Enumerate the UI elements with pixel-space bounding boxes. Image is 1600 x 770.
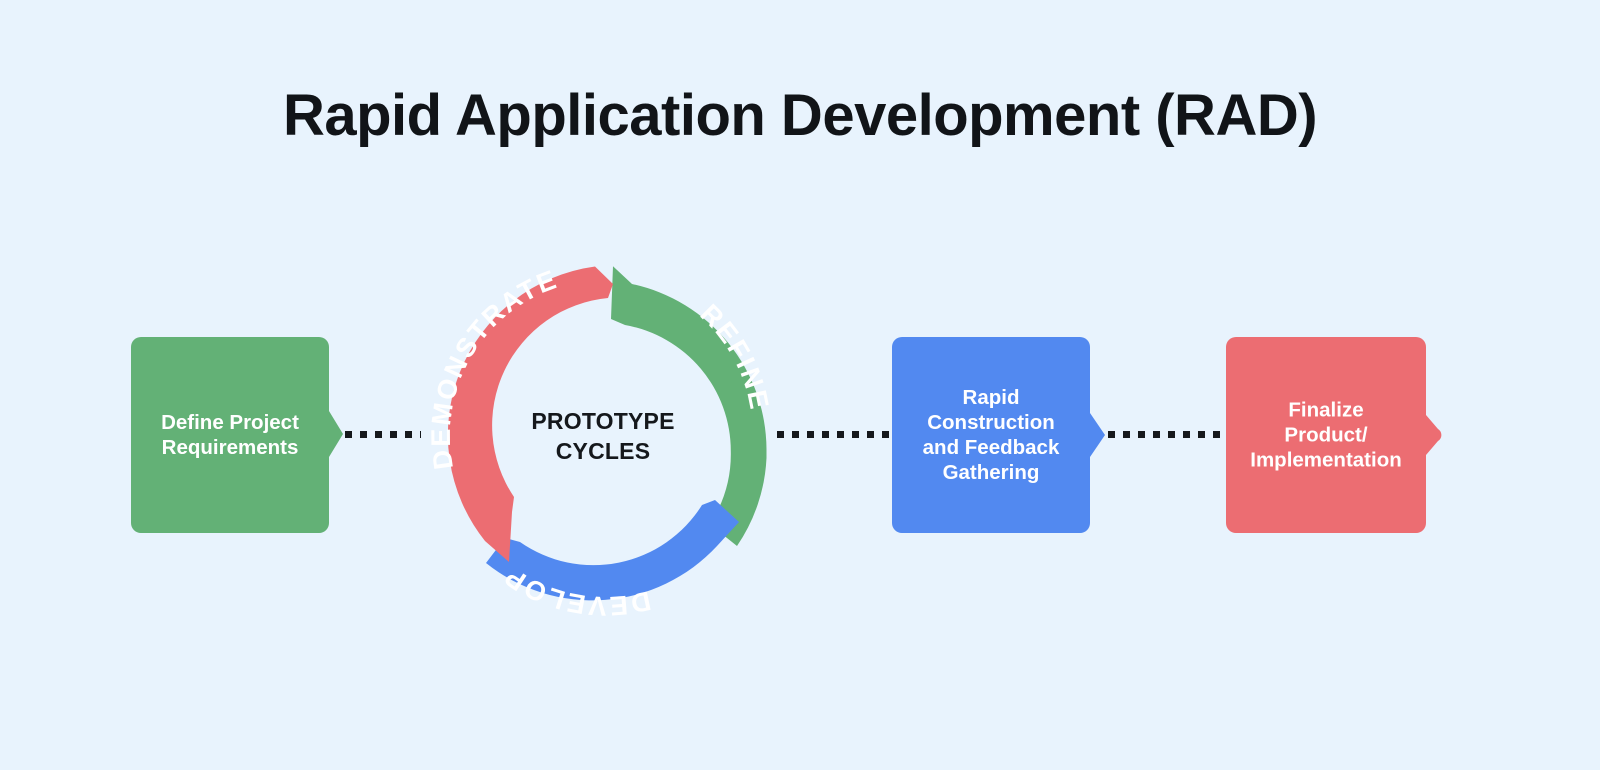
demonstrate-arc-shape: [448, 267, 613, 563]
stage-box-finalize-product[interactable]: Finalize Product/ Implementation: [1226, 337, 1440, 533]
cycle-segment-demonstrate[interactable]: DEMONSTRATE: [426, 264, 613, 562]
cycle-segment-refine[interactable]: REFINE: [611, 266, 775, 546]
stage-box-define-project-requirements[interactable]: Define Project Requirements: [131, 337, 343, 533]
define-box-shape: [131, 337, 343, 533]
rapid-box-shape: [892, 337, 1105, 533]
stage-box-rapid-construction[interactable]: Rapid Construction and Feedback Gatherin…: [892, 337, 1105, 533]
connector-cycle-to-rapid: [777, 431, 895, 438]
page-title: Rapid Application Development (RAD): [0, 84, 1600, 148]
connector-rapid-to-finalize: [1108, 431, 1226, 438]
refine-arc-shape: [611, 266, 767, 546]
prototype-cycle-ring: REFINE DEVELOP DEMONSTRATE PROTOTYPE CYC…: [417, 250, 789, 622]
finalize-box-shape: [1226, 337, 1441, 533]
diagram-canvas: Rapid Application Development (RAD) Defi…: [0, 0, 1600, 770]
connector-define-to-cycle: [345, 431, 421, 438]
cycle-segment-develop[interactable]: DEVELOP: [486, 500, 739, 621]
